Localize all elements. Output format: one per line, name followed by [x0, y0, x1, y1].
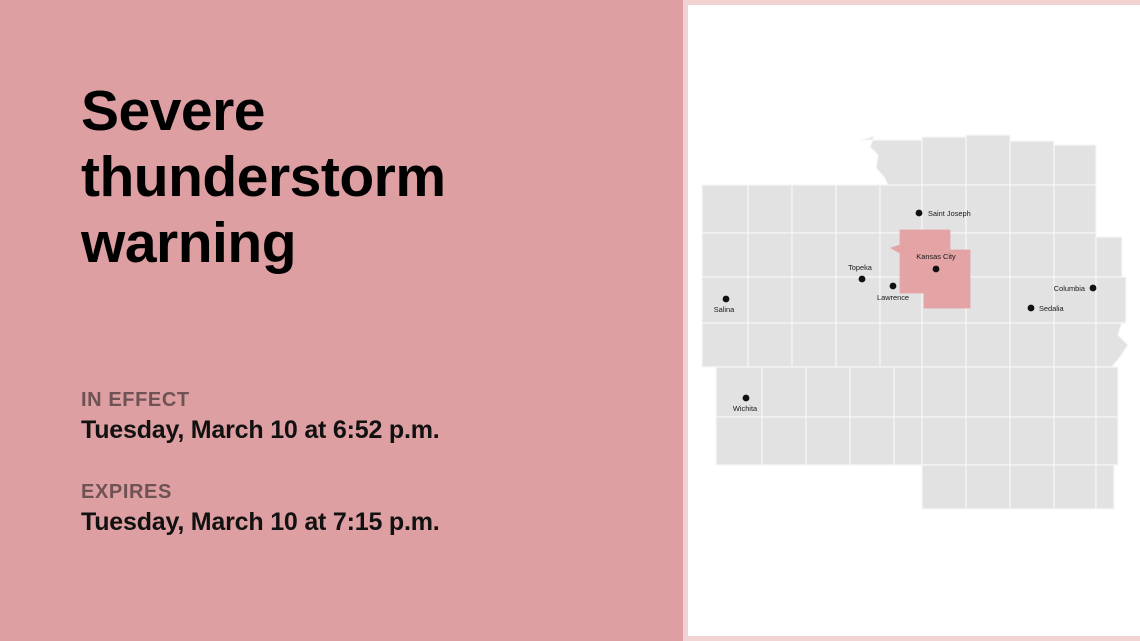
severe-weather-alert-graphic: Severe thunderstorm warning IN EFFECT Tu… [0, 0, 1140, 641]
in-effect-group: IN EFFECT Tuesday, March 10 at 6:52 p.m. [81, 388, 621, 445]
city-label: Saint Joseph [928, 209, 971, 218]
expires-value: Tuesday, March 10 at 7:15 p.m. [81, 507, 621, 537]
city-label: Wichita [733, 404, 758, 413]
city-dot-icon [916, 210, 923, 217]
in-effect-label: IN EFFECT [81, 388, 621, 412]
city-label: Topeka [848, 263, 873, 272]
city-dot-icon [723, 296, 730, 303]
city-dot-icon [859, 276, 866, 283]
kansas-counties [702, 185, 922, 465]
in-effect-value: Tuesday, March 10 at 6:52 p.m. [81, 415, 621, 445]
city-dot-icon [933, 266, 940, 273]
city-label: Sedalia [1039, 304, 1065, 313]
city-dot-icon [1090, 285, 1097, 292]
expires-group: EXPIRES Tuesday, March 10 at 7:15 p.m. [81, 480, 621, 537]
city-dot-icon [743, 395, 750, 402]
warning-area-map: Saint JosephKansas CityTopekaLawrenceSal… [688, 5, 1140, 636]
alert-timing-block: IN EFFECT Tuesday, March 10 at 6:52 p.m.… [81, 388, 621, 537]
expires-label: EXPIRES [81, 480, 621, 504]
city-label: Salina [714, 305, 735, 314]
county-base-layer [702, 135, 1128, 509]
city-label: Lawrence [877, 293, 909, 302]
city-label: Columbia [1054, 284, 1086, 293]
city-label: Kansas City [916, 252, 956, 261]
city-dot-icon [1028, 305, 1035, 312]
city-dot-icon [890, 283, 897, 290]
map-panel: Saint JosephKansas CityTopekaLawrenceSal… [683, 0, 1140, 641]
alert-info-panel: Severe thunderstorm warning [0, 0, 683, 641]
page-title: Severe thunderstorm warning [81, 78, 511, 276]
